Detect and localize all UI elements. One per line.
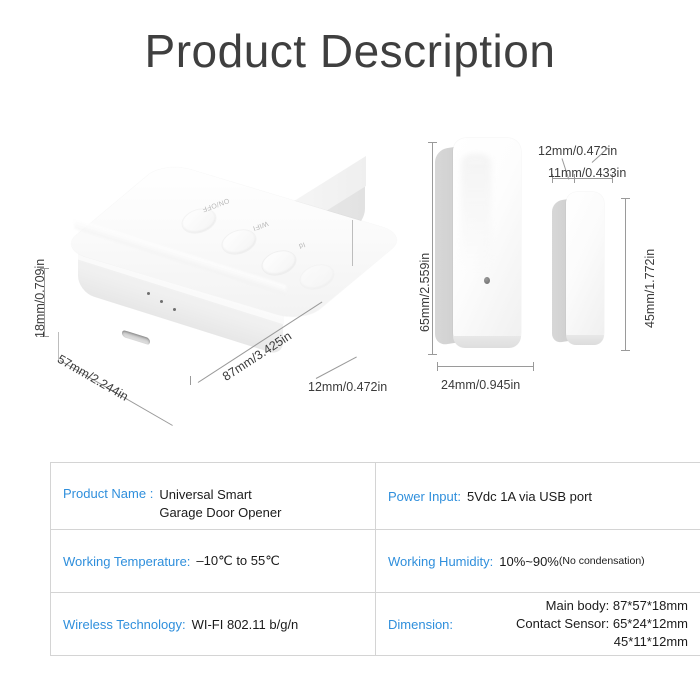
sensor-height-label: 65mm/2.559in — [418, 253, 432, 332]
hub-depth-cap — [190, 376, 191, 385]
working-humidity-value: 10%~90% — [499, 554, 559, 569]
sensor-height-cap-bottom — [428, 354, 437, 355]
main-body-hub: ON/OFF WIFI Id — [72, 148, 362, 393]
cell-power-input: Power Input: 5Vdc 1A via USB port — [376, 463, 700, 530]
dimension-key: Dimension: — [388, 617, 453, 632]
magnet-height-label: 45mm/1.772in — [643, 249, 657, 328]
dimension-value: Main body: 87*57*18mm Contact Sensor: 65… — [459, 597, 688, 651]
cell-dimension: Dimension: Main body: 87*57*18mm Contact… — [376, 593, 700, 656]
cell-working-temperature: Working Temperature: –10℃ to 55℃ — [51, 530, 376, 593]
sensor-width-label: 24mm/0.945in — [441, 378, 520, 392]
working-temperature-value: –10℃ to 55℃ — [196, 553, 279, 569]
cell-product-name: Product Name : Universal Smart Garage Do… — [51, 463, 376, 530]
sensor-height-rule — [432, 142, 433, 354]
product-name-key: Product Name : — [63, 486, 153, 501]
sensor-width-rule — [437, 366, 533, 367]
contact-sensor-main — [435, 138, 533, 353]
sensor-highlight — [461, 154, 491, 274]
hub-led-indicator-3 — [173, 308, 176, 311]
table-row: Working Temperature: –10℃ to 55℃ Working… — [51, 530, 700, 593]
dimension-line-1: Main body: 87*57*18mm — [546, 598, 688, 613]
product-photo-stage: ON/OFF WIFI Id 18mm/0.709in 57mm/2.244in… — [0, 120, 700, 440]
specifications-table: Product Name : Universal Smart Garage Do… — [50, 462, 700, 656]
magnet-height-cap-top — [621, 198, 630, 199]
sensor-bottom-edge — [453, 336, 521, 348]
hub-led-indicator-1 — [147, 292, 150, 295]
sensor-depth-label: 12mm/0.472in — [308, 380, 387, 394]
cell-working-humidity: Working Humidity: 10%~90%(No condensatio… — [376, 530, 700, 593]
magnet-width-label: 11mm/0.433in — [548, 166, 626, 180]
working-temperature-key: Working Temperature: — [63, 554, 190, 569]
power-input-key: Power Input: — [388, 489, 461, 504]
magnet-front-face — [566, 192, 604, 344]
wireless-technology-key: Wireless Technology: — [63, 617, 186, 632]
hub-width-extension — [352, 220, 353, 266]
hub-height-label: 18mm/0.709in — [33, 259, 47, 338]
table-row: Product Name : Universal Smart Garage Do… — [51, 463, 700, 530]
product-name-line-2: Garage Door Opener — [159, 505, 281, 520]
sensor-width-cap-left — [437, 362, 438, 371]
cell-wireless-technology: Wireless Technology: WI-FI 802.11 b/g/n — [51, 593, 376, 656]
dimension-line-2: Contact Sensor: 65*24*12mm — [516, 616, 688, 631]
product-name-line-1: Universal Smart — [159, 487, 251, 502]
sensor-led-indicator — [484, 277, 490, 284]
product-description-page: Product Description ON/OFF WIFI Id — [0, 0, 700, 700]
magnet-bottom-edge — [566, 335, 604, 345]
working-humidity-key: Working Humidity: — [388, 554, 493, 569]
page-title: Product Description — [0, 24, 700, 78]
sensor-height-cap-top — [428, 142, 437, 143]
dimension-line-3: 45*11*12mm — [614, 634, 688, 649]
contact-sensor-magnet — [552, 192, 614, 352]
table-row: Wireless Technology: WI-FI 802.11 b/g/n … — [51, 593, 700, 656]
magnet-height-rule — [625, 198, 626, 350]
usb-port-icon — [122, 330, 150, 346]
magnet-height-cap-bottom — [621, 350, 630, 351]
hub-led-indicator-2 — [160, 300, 163, 303]
working-humidity-note: (No condensation) — [559, 555, 645, 567]
sensor-width-cap-right — [533, 362, 534, 371]
wireless-technology-value: WI-FI 802.11 b/g/n — [192, 617, 299, 632]
product-name-value: Universal Smart Garage Door Opener — [159, 486, 281, 521]
power-input-value: 5Vdc 1A via USB port — [467, 489, 592, 504]
